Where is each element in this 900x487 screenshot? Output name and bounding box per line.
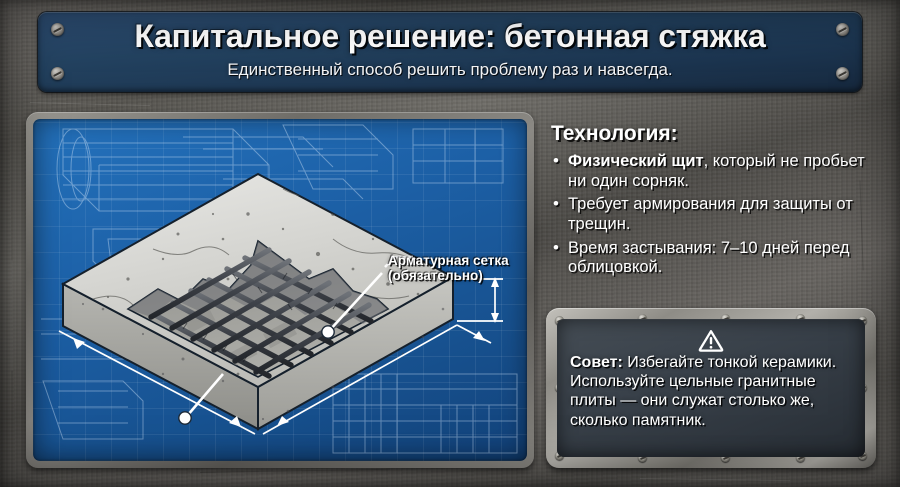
list-item-text: Требует армирования для защиты от трещин… xyxy=(568,195,853,233)
technology-section: Технология: Физический щит, который не п… xyxy=(551,122,881,282)
metal-scratch xyxy=(30,102,150,106)
tip-label: Совет: xyxy=(570,354,623,371)
blueprint-canvas: Арматурная сетка (обязательно) Арматурна… xyxy=(33,119,527,461)
warning-triangle-icon xyxy=(698,329,724,352)
list-item: Требует армирования для защиты от трещин… xyxy=(551,195,881,234)
page-subtitle: Единственный способ решить проблему раз … xyxy=(38,60,862,80)
concrete-slab-diagram xyxy=(33,119,527,461)
tip-inner-panel: Совет: Избегайте тонкой керамики. Исполь… xyxy=(557,319,865,457)
header-plate: Капитальное решение: бетонная стяжка Еди… xyxy=(38,12,862,92)
blueprint-panel: Арматурная сетка (обязательно) Арматурна… xyxy=(26,112,534,468)
list-item-text: Время застывания: 7–10 дней перед облицо… xyxy=(568,239,850,277)
technology-title: Технология: xyxy=(551,122,881,146)
metal-scratch xyxy=(640,478,790,481)
technology-list: Физический щит, который не пробьет ни од… xyxy=(551,152,881,278)
label-reinforcement-mesh-top: Арматурная сетка (обязательно) xyxy=(388,253,509,283)
metal-scratch xyxy=(12,261,13,371)
list-item-strong: Физический щит xyxy=(568,152,704,170)
list-item: Время застывания: 7–10 дней перед облицо… xyxy=(551,239,881,278)
poster-background: Капитальное решение: бетонная стяжка Еди… xyxy=(0,0,900,487)
list-item: Физический щит, который не пробьет ни од… xyxy=(551,152,881,191)
tip-box: Совет: Избегайте тонкой керамики. Исполь… xyxy=(546,308,876,468)
tip-text: Совет: Избегайте тонкой керамики. Исполь… xyxy=(570,353,852,430)
page-title: Капитальное решение: бетонная стяжка xyxy=(38,18,862,55)
metal-scratch xyxy=(200,469,390,473)
